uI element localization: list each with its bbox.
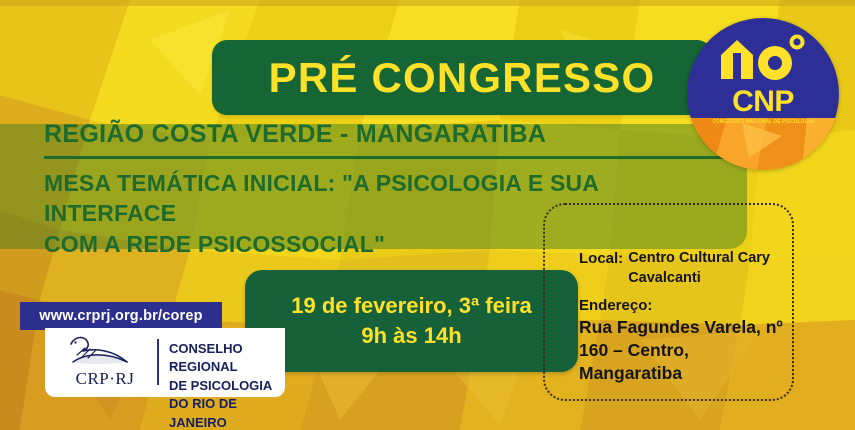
cnp-logo: CNP CONGRESSO NACIONAL DE PSICOLOGIA (687, 18, 839, 170)
title-banner: PRÉ CONGRESSO (212, 40, 712, 115)
address-box: Local: Centro Cultural Cary Cavalcanti E… (543, 203, 794, 401)
crp-name-line-1: CONSELHO REGIONAL (169, 340, 285, 377)
heading-divider (44, 156, 744, 159)
crp-name-line-2: DE PSICOLOGIA (169, 377, 285, 395)
crp-logo-card: CRP·RJ CONSELHO REGIONAL DE PSICOLOGIA D… (45, 328, 285, 397)
cnp-acronym: CNP (687, 87, 839, 117)
local-value: Centro Cultural Cary Cavalcanti (628, 249, 794, 288)
endereco-label: Endereço: (579, 296, 794, 316)
cnp-logo-mark: CNP CONGRESSO NACIONAL DE PSICOLOGIA (687, 33, 839, 124)
crp-website-url: www.crprj.org.br/corep (39, 308, 202, 324)
region-heading: REGIÃO COSTA VERDE - MANGARATIBA (44, 120, 546, 149)
cnp-10-degree-icon (713, 33, 813, 81)
crp-url-bar[interactable]: www.crprj.org.br/corep (20, 302, 222, 330)
cnp-logo-orange-field (687, 118, 839, 170)
event-date: 19 de fevereiro, 3ª feira (291, 291, 532, 321)
crp-bird-mark: CRP·RJ (65, 334, 150, 390)
cnp-tagline: CONGRESSO NACIONAL DE PSICOLOGIA (687, 119, 839, 125)
crp-divider (157, 339, 159, 385)
crp-bird-icon (65, 334, 145, 370)
page-title: PRÉ CONGRESSO (269, 57, 656, 99)
crp-name-lines: CONSELHO REGIONAL DE PSICOLOGIA DO RIO D… (169, 340, 285, 430)
event-time: 9h às 14h (361, 321, 461, 351)
crp-acronym: CRP·RJ (65, 369, 145, 389)
local-label: Local: (579, 249, 623, 269)
address-content: Local: Centro Cultural Cary Cavalcanti E… (579, 249, 794, 385)
event-poster: PRÉ CONGRESSO REGIÃO COSTA VERDE - MANGA… (0, 0, 855, 430)
endereco-value: Rua Fagundes Varela, nº 160 – Centro, Ma… (579, 316, 794, 385)
date-box: 19 de fevereiro, 3ª feira 9h às 14h (245, 270, 578, 372)
crp-name-line-3: DO RIO DE JANEIRO (169, 395, 285, 430)
